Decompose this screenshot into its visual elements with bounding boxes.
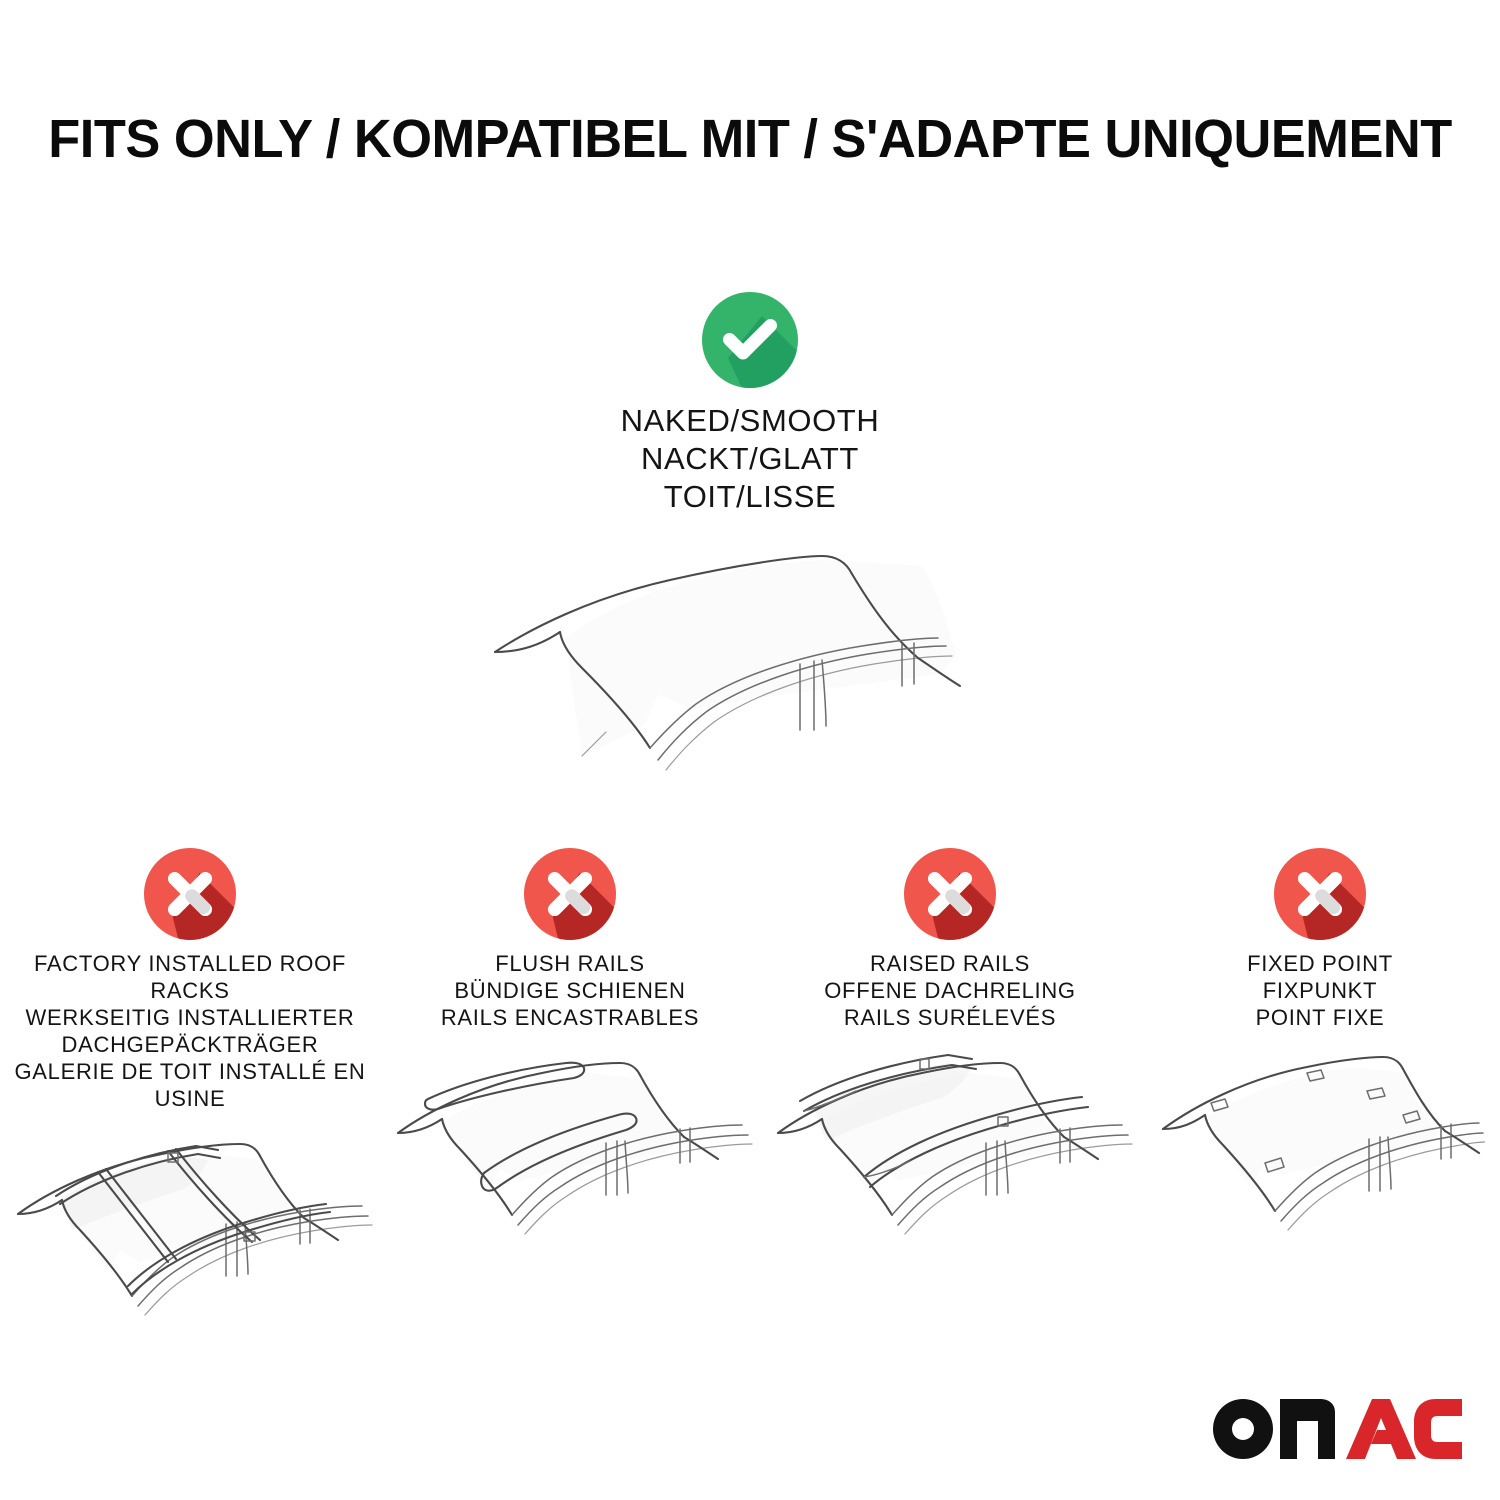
label-line-3: RAILS SURÉLEVÉS <box>824 1004 1075 1031</box>
label-line-1: RAISED RAILS <box>824 950 1075 977</box>
label-line-3: RAILS ENCASTRABLES <box>441 1004 699 1031</box>
car-roof-raised-rails-illustration <box>760 1045 1140 1260</box>
label-line-3: DACHGEPÄCKTRÄGER <box>4 1031 376 1058</box>
x-circle-icon <box>144 848 236 940</box>
incompatible-item-factory-installed-roof-racks: FACTORY INSTALLED ROOF RACKS WERKSEITIG … <box>0 848 380 1341</box>
car-roof-factory-racks-illustration <box>0 1126 380 1341</box>
page-title: FITS ONLY / KOMPATIBEL MIT / S'ADAPTE UN… <box>23 108 1478 170</box>
incompatible-item-flush-rails: FLUSH RAILS BÜNDIGE SCHIENEN RAILS ENCAS… <box>380 848 760 1260</box>
incompatible-label-raised-rails: RAISED RAILS OFFENE DACHRELING RAILS SUR… <box>820 950 1079 1031</box>
label-line-4: GALERIE DE TOIT INSTALLÉ EN USINE <box>4 1058 376 1112</box>
logo-letter-c <box>1414 1399 1462 1459</box>
label-line-3: POINT FIXE <box>1247 1004 1393 1031</box>
label-line-1: FACTORY INSTALLED ROOF RACKS <box>4 950 376 1004</box>
label-line-1: FIXED POINT <box>1247 950 1393 977</box>
incompatible-label-factory-installed-roof-racks: FACTORY INSTALLED ROOF RACKS WERKSEITIG … <box>0 950 380 1112</box>
incompatible-label-fixed-point: FIXED POINT FIXPUNKT POINT FIXE <box>1243 950 1397 1031</box>
omac-logo <box>1210 1394 1462 1464</box>
label-line-2: WERKSEITIG INSTALLIERTER <box>4 1004 376 1031</box>
car-roof-flush-rails-illustration <box>380 1045 760 1260</box>
compatible-label-line-1: NAKED/SMOOTH <box>621 402 880 440</box>
x-circle-icon <box>524 848 616 940</box>
incompatible-row: FACTORY INSTALLED ROOF RACKS WERKSEITIG … <box>0 848 1500 1341</box>
compatible-label-line-2: NACKT/GLATT <box>621 440 880 478</box>
x-circle-icon <box>904 848 996 940</box>
label-line-2: BÜNDIGE SCHIENEN <box>441 977 699 1004</box>
label-line-2: FIXPUNKT <box>1247 977 1393 1004</box>
incompatible-item-fixed-point: FIXED POINT FIXPUNKT POINT FIXE <box>1140 848 1500 1260</box>
incompatible-item-raised-rails: RAISED RAILS OFFENE DACHRELING RAILS SUR… <box>760 848 1140 1260</box>
label-line-2: OFFENE DACHRELING <box>824 977 1075 1004</box>
compatible-label-line-3: TOIT/LISSE <box>621 478 880 516</box>
car-roof-fixed-point-illustration <box>1155 1045 1485 1260</box>
logo-letter-o <box>1213 1399 1273 1459</box>
logo-letter-a <box>1346 1399 1416 1459</box>
compatible-label: NAKED/SMOOTH NACKT/GLATT TOIT/LISSE <box>621 402 880 516</box>
logo-letter-m <box>1280 1399 1335 1459</box>
x-circle-icon <box>1274 848 1366 940</box>
car-roof-naked-smooth-illustration <box>470 534 1030 804</box>
check-circle-icon <box>702 292 798 388</box>
compatible-section: NAKED/SMOOTH NACKT/GLATT TOIT/LISSE <box>0 292 1500 804</box>
label-line-1: FLUSH RAILS <box>441 950 699 977</box>
incompatible-label-flush-rails: FLUSH RAILS BÜNDIGE SCHIENEN RAILS ENCAS… <box>437 950 703 1031</box>
